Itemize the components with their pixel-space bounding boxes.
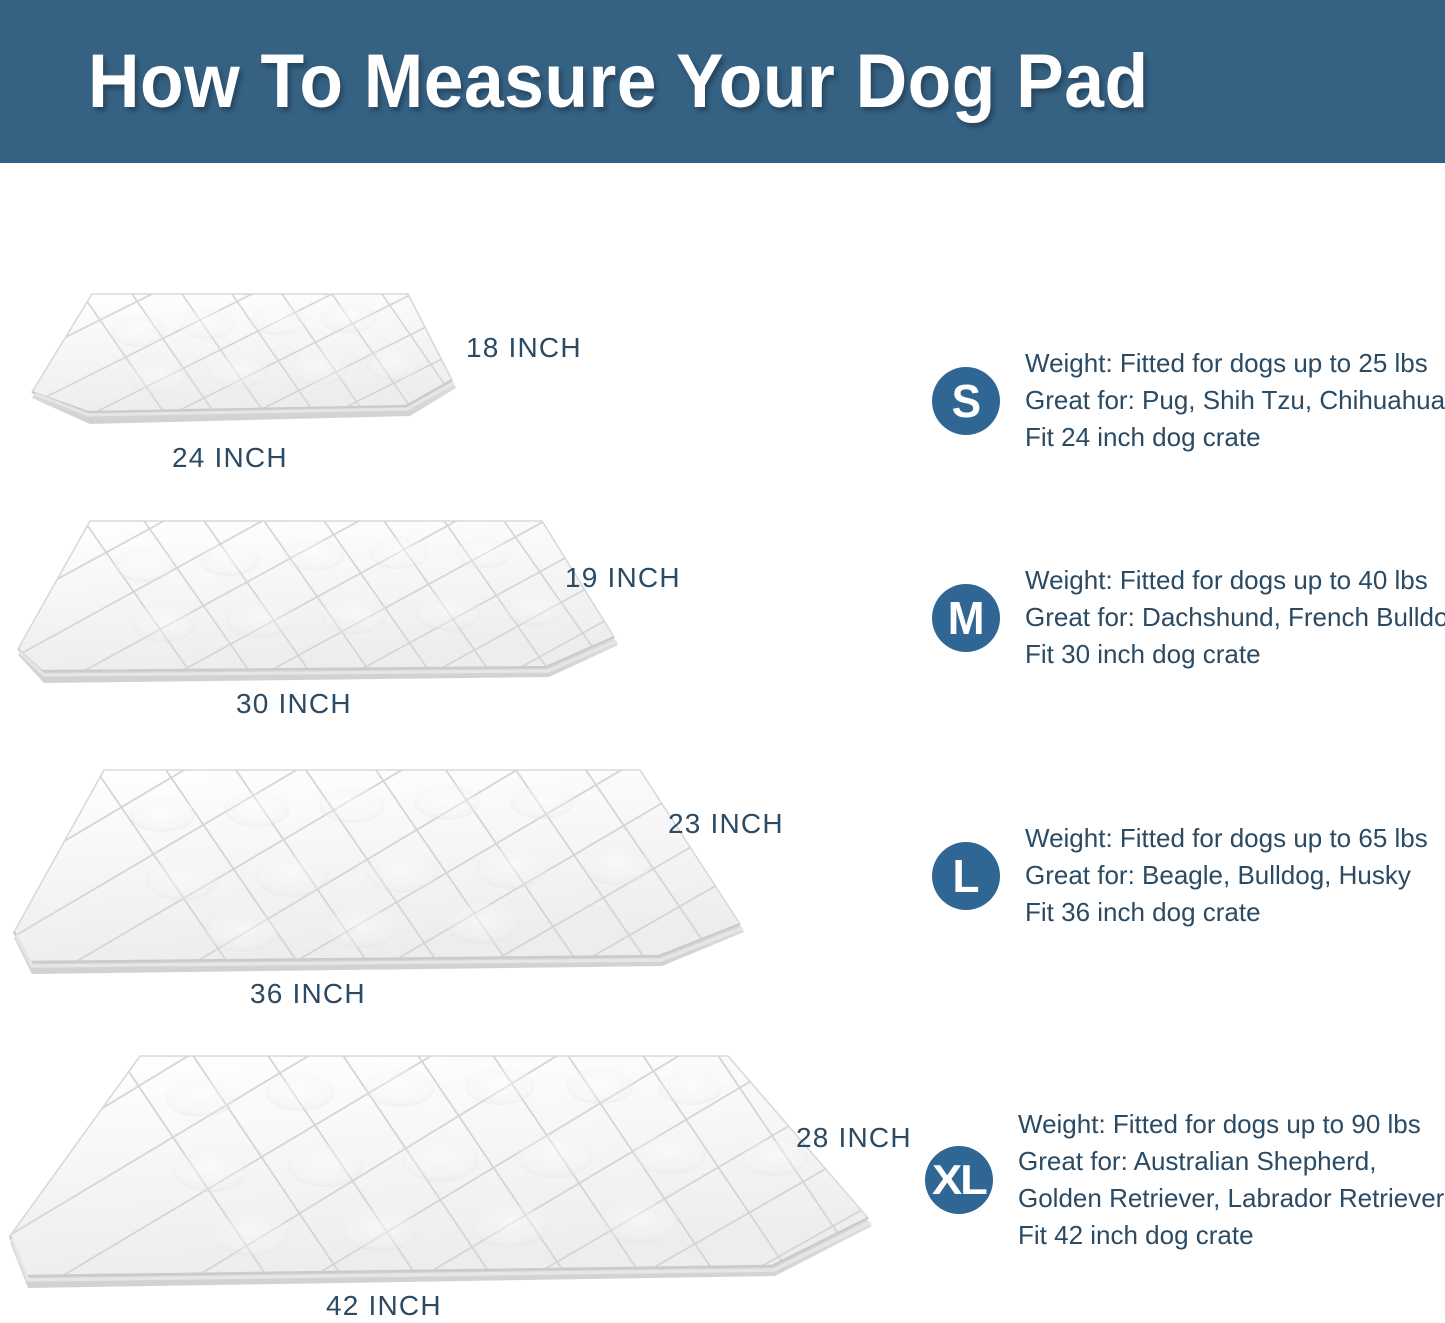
- size-badge-m: M: [932, 584, 1000, 652]
- pad-depth-label-small: 18 INCH: [466, 332, 582, 364]
- spec-line-weight: Weight: Fitted for dogs up to 90 lbs: [1018, 1106, 1444, 1143]
- size-badge-label: L: [953, 853, 979, 899]
- spec-line-crate: Fit 24 inch dog crate: [1025, 419, 1445, 456]
- size-spec-text-xlarge: Weight: Fitted for dogs up to 90 lbs Gre…: [1018, 1106, 1444, 1254]
- size-badge-label: S: [952, 378, 981, 424]
- size-badge-xl: XL: [925, 1146, 993, 1214]
- pad-depth-label-large: 23 INCH: [668, 808, 784, 840]
- pad-depth-label-xlarge: 28 INCH: [796, 1122, 912, 1154]
- spec-line-weight: Weight: Fitted for dogs up to 40 lbs: [1025, 562, 1445, 599]
- spec-line-breeds-1: Great for: Australian Shepherd,: [1018, 1143, 1444, 1180]
- spec-line-weight: Weight: Fitted for dogs up to 65 lbs: [1025, 820, 1428, 857]
- dog-pad-small: [8, 276, 468, 436]
- page-title: How To Measure Your Dog Pad: [88, 44, 1149, 120]
- size-badge-label: M: [948, 595, 984, 641]
- spec-line-weight: Weight: Fitted for dogs up to 25 lbs: [1025, 345, 1445, 382]
- spec-line-breeds-2: Golden Retriever, Labrador Retriever: [1018, 1180, 1444, 1217]
- pad-illustration-xlarge: [0, 1030, 900, 1300]
- dog-pad-large: [2, 752, 762, 982]
- pad-illustration-large: [2, 752, 762, 982]
- dog-pad-medium: [4, 505, 634, 690]
- size-spec-xlarge: XL Weight: Fitted for dogs up to 90 lbs …: [925, 1106, 1444, 1254]
- spec-line-crate: Fit 36 inch dog crate: [1025, 894, 1428, 931]
- size-spec-large: L Weight: Fitted for dogs up to 65 lbs G…: [932, 820, 1428, 931]
- size-badge-label: XL: [932, 1159, 986, 1201]
- spec-line-breeds: Great for: Beagle, Bulldog, Husky: [1025, 857, 1428, 894]
- size-spec-text-large: Weight: Fitted for dogs up to 65 lbs Gre…: [1025, 820, 1428, 931]
- pad-width-label-medium: 30 INCH: [236, 688, 352, 720]
- size-spec-text-small: Weight: Fitted for dogs up to 25 lbs Gre…: [1025, 345, 1445, 456]
- size-badge-l: L: [932, 842, 1000, 910]
- pad-illustration-small: [8, 276, 468, 436]
- size-badge-s: S: [932, 367, 1000, 435]
- spec-line-crate: Fit 30 inch dog crate: [1025, 636, 1445, 673]
- spec-line-breeds: Great for: Dachshund, French Bulldog: [1025, 599, 1445, 636]
- pad-depth-label-medium: 19 INCH: [565, 562, 681, 594]
- header-banner: How To Measure Your Dog Pad: [0, 0, 1445, 163]
- pad-illustration-medium: [4, 505, 634, 690]
- spec-line-breeds: Great for: Pug, Shih Tzu, Chihuahua: [1025, 382, 1445, 419]
- size-spec-text-medium: Weight: Fitted for dogs up to 40 lbs Gre…: [1025, 562, 1445, 673]
- pad-width-label-xlarge: 42 INCH: [326, 1290, 442, 1322]
- pad-width-label-large: 36 INCH: [250, 978, 366, 1010]
- pad-width-label-small: 24 INCH: [172, 442, 288, 474]
- dog-pad-xlarge: [0, 1030, 900, 1300]
- size-spec-small: S Weight: Fitted for dogs up to 25 lbs G…: [932, 345, 1445, 456]
- size-spec-medium: M Weight: Fitted for dogs up to 40 lbs G…: [932, 562, 1445, 673]
- spec-line-crate: Fit 42 inch dog crate: [1018, 1217, 1444, 1254]
